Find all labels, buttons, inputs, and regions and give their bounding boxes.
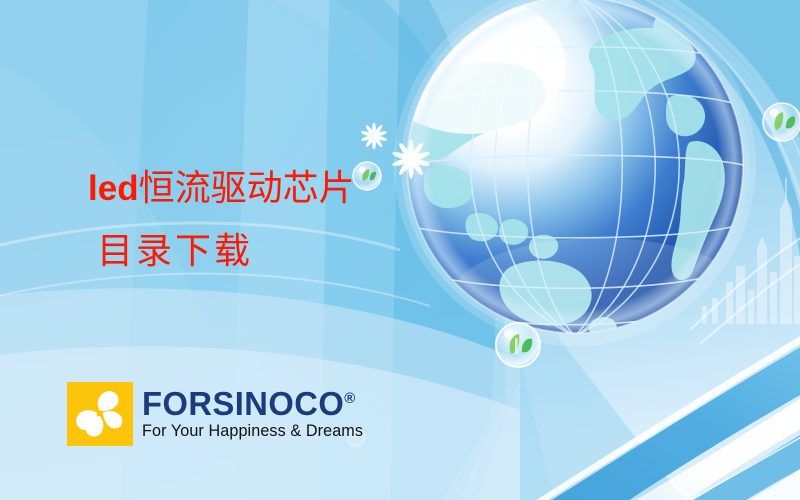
logo-wordmark: FORSINOCO® <box>142 387 365 420</box>
logo-text-block: FORSINOCO® For Your Happiness & Dreams <box>142 387 368 442</box>
bubble-leaf-small <box>353 162 381 190</box>
registered-trademark-icon: ® <box>344 390 355 407</box>
bubble-leaf-medium <box>496 323 540 367</box>
slide-canvas: led恒流驱动芯片 目录下载 FORSINOCO® For Your Happi… <box>0 0 800 500</box>
four-petal-pinwheel-mark <box>67 382 133 446</box>
logo-wordmark-text: FORSINOCO <box>142 385 344 422</box>
logo-tagline: For Your Happiness & Dreams <box>142 423 363 440</box>
bubble-leaf-edge <box>763 103 800 141</box>
company-logo[interactable]: FORSINOCO® For Your Happiness & Dreams <box>67 382 368 446</box>
